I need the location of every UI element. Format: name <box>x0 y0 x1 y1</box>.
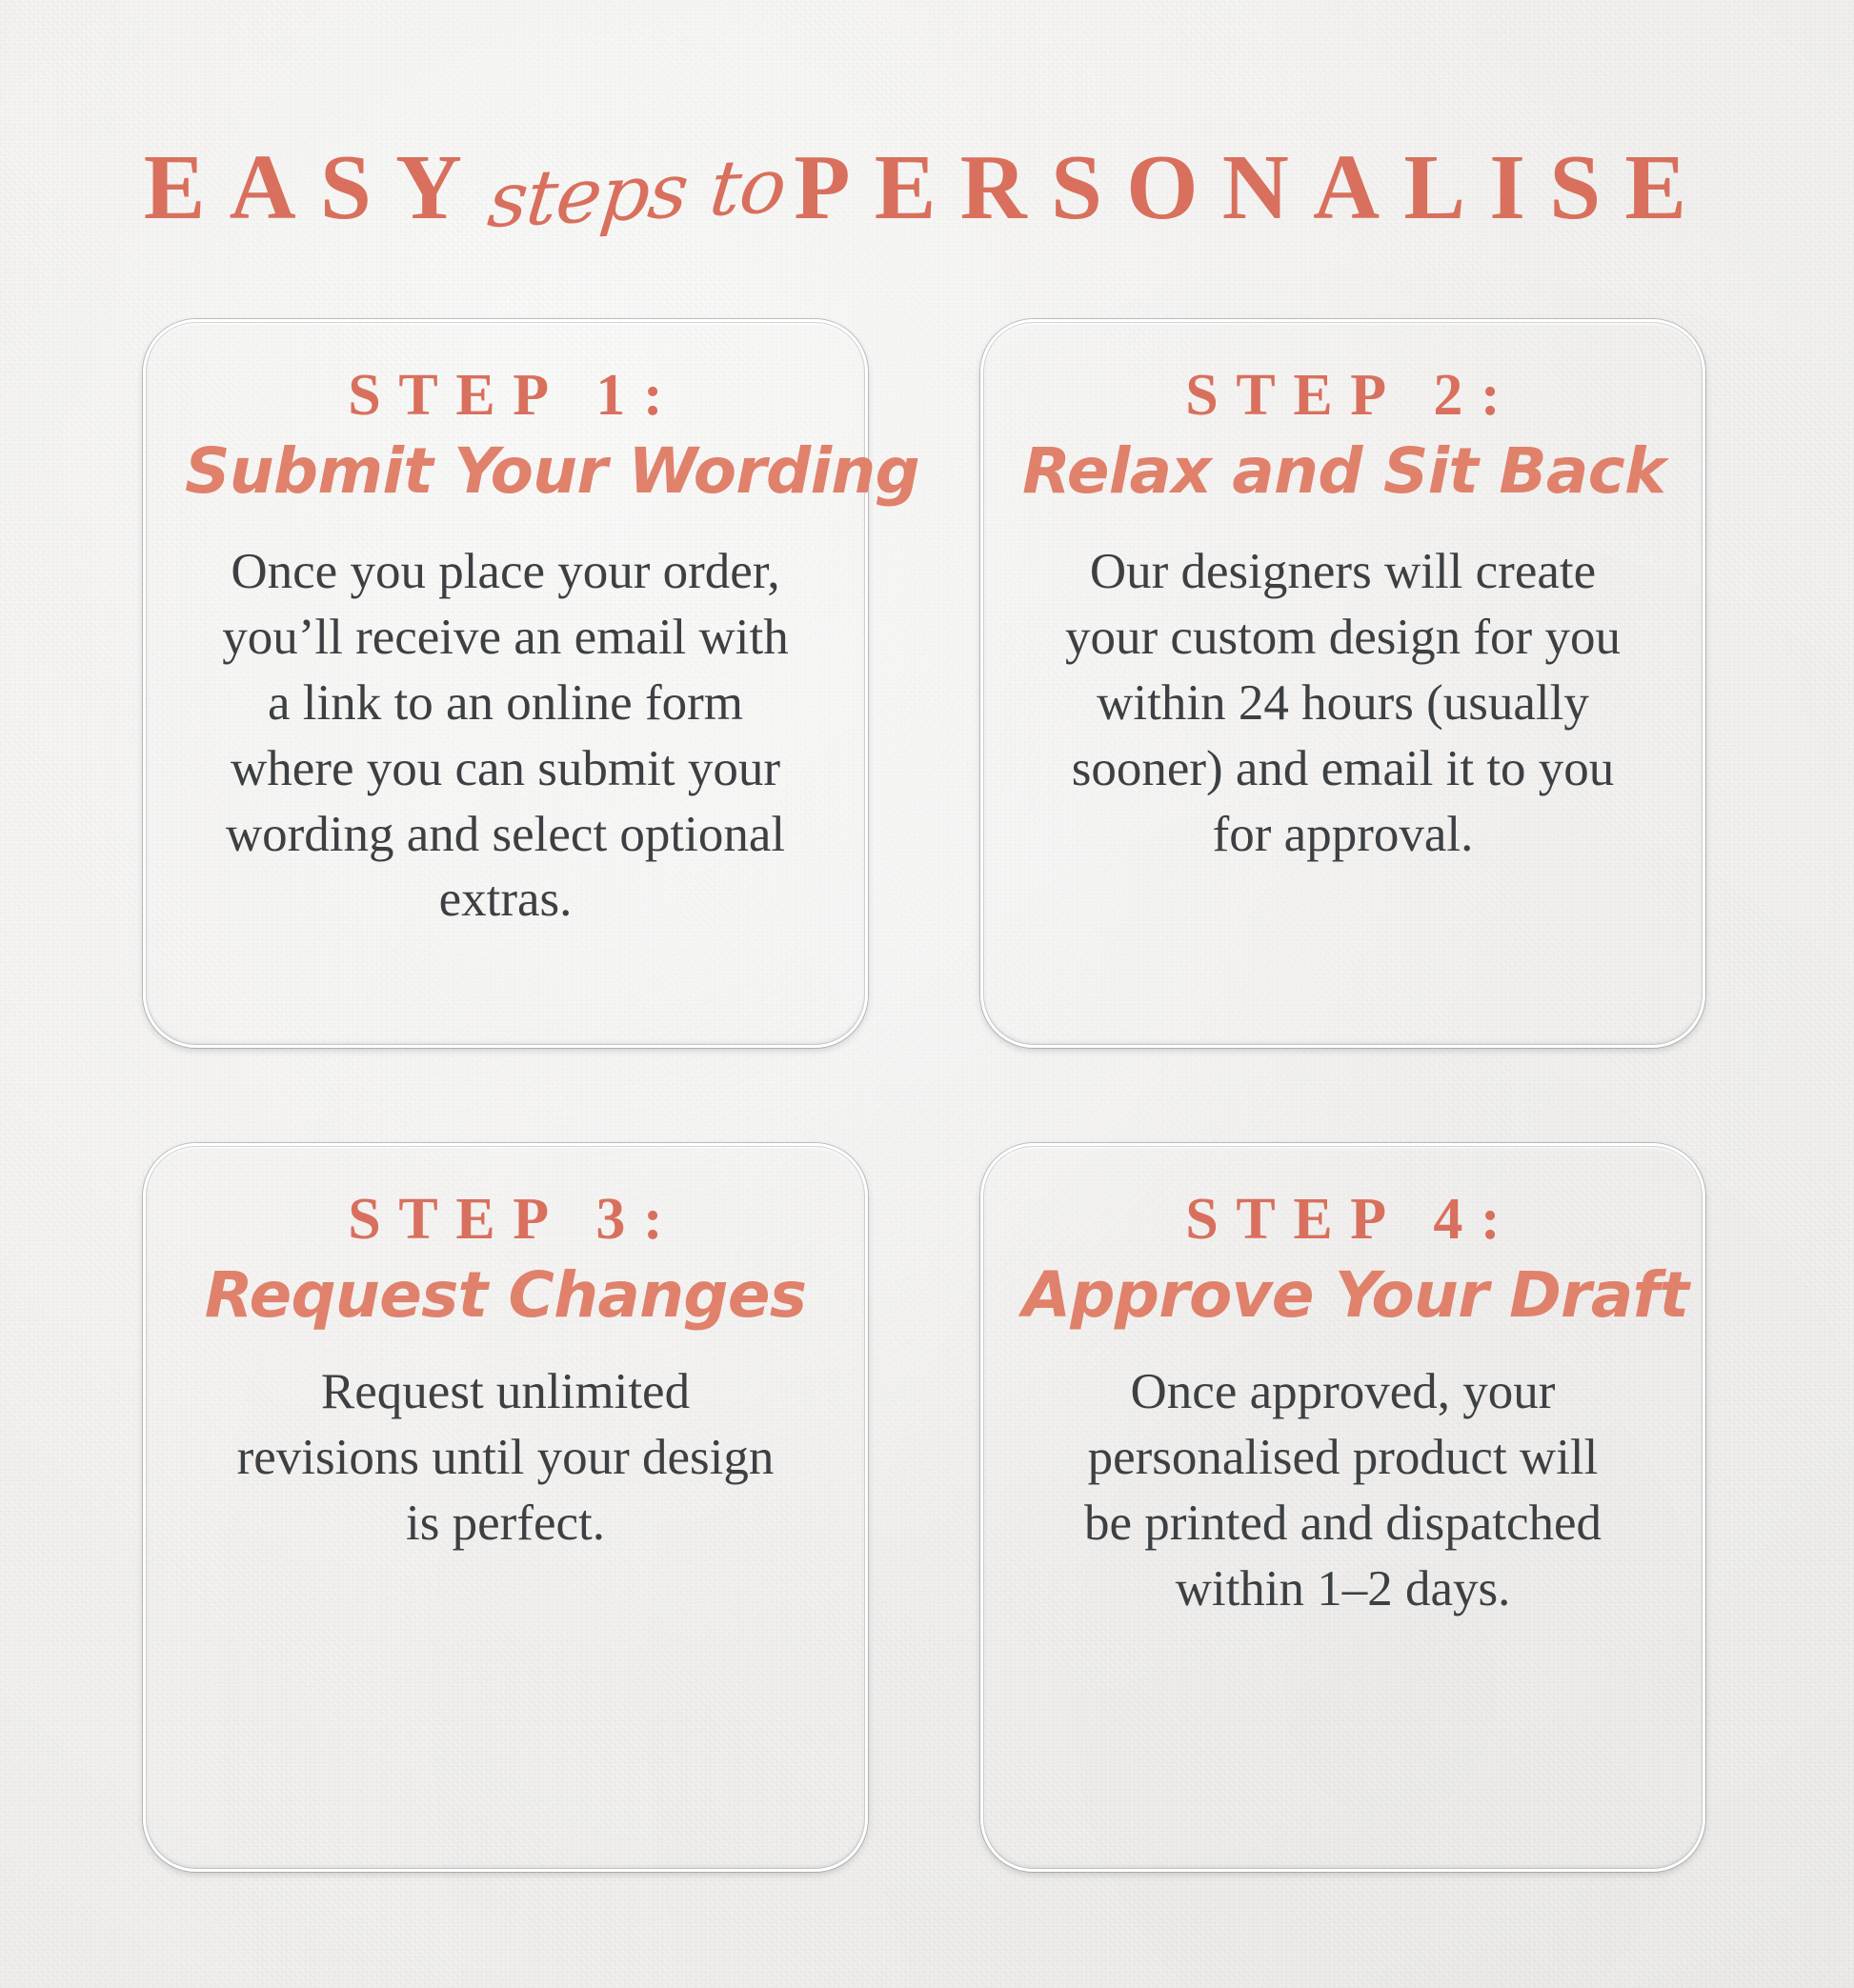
step-4-label: STEP 4: <box>1022 1189 1663 1251</box>
step-4-title: Approve Your Draft <box>1022 1260 1663 1331</box>
infographic-page: EASYsteps toPERSONALISE STEP 1: Submit Y… <box>0 0 1854 1988</box>
step-card-1-content: STEP 1: Submit Your Wording Once you pla… <box>185 365 826 933</box>
step-card-4[interactable]: STEP 4: Approve Your Draft Once approved… <box>980 1143 1705 1872</box>
step-2-body: Our designers will create your custom de… <box>1022 539 1663 867</box>
step-card-4-content: STEP 4: Approve Your Draft Once approved… <box>1022 1189 1663 1622</box>
step-3-label: STEP 3: <box>185 1189 826 1251</box>
step-card-3-content: STEP 3: Request Changes Request unlimite… <box>185 1189 826 1556</box>
title-personalise: PERSONALISE <box>794 136 1710 238</box>
step-2-label: STEP 2: <box>1022 365 1663 427</box>
steps-row-top: STEP 1: Submit Your Wording Once you pla… <box>143 319 1705 1048</box>
step-1-body: Once you place your order, you’ll receiv… <box>185 539 826 933</box>
step-card-2-content: STEP 2: Relax and Sit Back Our designers… <box>1022 365 1663 867</box>
step-1-label: STEP 1: <box>185 365 826 427</box>
step-3-title: Request Changes <box>185 1260 826 1331</box>
step-card-3[interactable]: STEP 3: Request Changes Request unlimite… <box>143 1143 868 1872</box>
steps-row-bottom: STEP 3: Request Changes Request unlimite… <box>143 1143 1705 1872</box>
step-2-title: Relax and Sit Back <box>1022 436 1663 507</box>
steps-grid: STEP 1: Submit Your Wording Once you pla… <box>143 319 1705 1872</box>
step-card-2[interactable]: STEP 2: Relax and Sit Back Our designers… <box>980 319 1705 1048</box>
title-steps-to-script: steps to <box>484 141 790 245</box>
step-4-body: Once approved, your personalised product… <box>1022 1359 1663 1622</box>
step-1-title: Submit Your Wording <box>185 436 826 507</box>
step-card-1[interactable]: STEP 1: Submit Your Wording Once you pla… <box>143 319 868 1048</box>
title-easy: EASY <box>144 136 487 238</box>
step-3-body: Request unlimited revisions until your d… <box>185 1359 826 1556</box>
page-title: EASYsteps toPERSONALISE <box>0 141 1854 233</box>
